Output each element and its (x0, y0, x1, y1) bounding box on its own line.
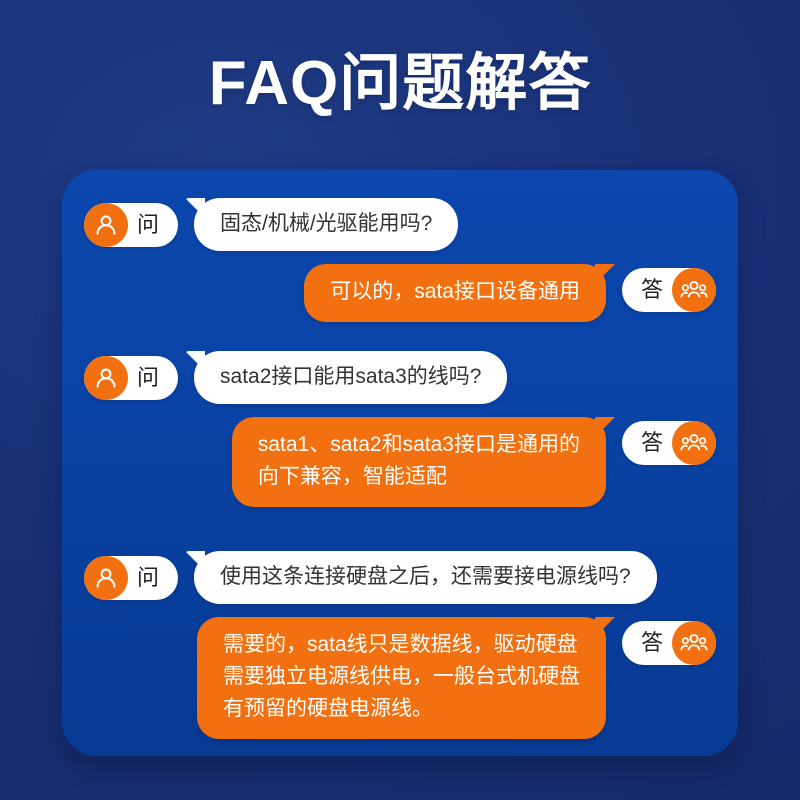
person-icon (84, 203, 128, 247)
answer-badge-label: 答 (638, 268, 672, 312)
answer-bubble: 可以的，sata接口设备通用 (304, 264, 606, 322)
question-text: 固态/机械/光驱能用吗? (220, 212, 432, 235)
person-icon (84, 356, 128, 400)
answer-row: 可以的，sata接口设备通用 答 (62, 264, 738, 322)
question-badge: 问 (84, 556, 178, 600)
answer-bubble: sata1、sata2和sata3接口是通用的 向下兼容，智能适配 (232, 417, 606, 507)
question-text: sata2接口能用sata3的线吗? (220, 365, 481, 388)
faq-item: 问 固态/机械/光驱能用吗? 可以的，sata接口设备通用 答 (62, 198, 738, 322)
question-badge-label: 问 (128, 556, 162, 600)
page-title: FAQ问题解答 (0, 47, 800, 121)
answer-line: 需要的，sata线只是数据线，驱动硬盘 (223, 629, 580, 661)
answer-line: 需要独立电源线供电，一般台式机硬盘 (223, 661, 580, 693)
group-people-icon (672, 268, 716, 312)
answer-row: 需要的，sata线只是数据线，驱动硬盘 需要独立电源线供电，一般台式机硬盘 有预… (62, 617, 738, 739)
question-row: 问 sata2接口能用sata3的线吗? (62, 351, 738, 404)
faq-item: 问 sata2接口能用sata3的线吗? sata1、sata2和sata3接口… (62, 351, 738, 507)
answer-badge-label: 答 (638, 621, 672, 665)
answer-badge: 答 (622, 621, 716, 665)
question-bubble: 固态/机械/光驱能用吗? (194, 198, 458, 251)
question-badge-label: 问 (128, 203, 162, 247)
answer-line: 可以的，sata接口设备通用 (330, 276, 580, 308)
question-bubble: 使用这条连接硬盘之后，还需要接电源线吗? (194, 551, 657, 604)
question-badge: 问 (84, 356, 178, 400)
answer-badge: 答 (622, 421, 716, 465)
faq-card: 问 固态/机械/光驱能用吗? 可以的，sata接口设备通用 答 (62, 170, 738, 756)
answer-badge: 答 (622, 268, 716, 312)
answer-row: sata1、sata2和sata3接口是通用的 向下兼容，智能适配 答 (62, 417, 738, 507)
question-badge-label: 问 (128, 356, 162, 400)
answer-line: 有预留的硬盘电源线。 (223, 693, 580, 725)
question-row: 问 固态/机械/光驱能用吗? (62, 198, 738, 251)
group-people-icon (672, 421, 716, 465)
group-people-icon (672, 621, 716, 665)
answer-badge-label: 答 (638, 421, 672, 465)
answer-line: sata1、sata2和sata3接口是通用的 (258, 429, 580, 461)
answer-bubble: 需要的，sata线只是数据线，驱动硬盘 需要独立电源线供电，一般台式机硬盘 有预… (197, 617, 606, 739)
faq-page: FAQ问题解答 问 固态/机械/光驱能用吗? (0, 0, 800, 800)
question-text: 使用这条连接硬盘之后，还需要接电源线吗? (220, 565, 631, 588)
question-row: 问 使用这条连接硬盘之后，还需要接电源线吗? (62, 551, 738, 604)
question-badge: 问 (84, 203, 178, 247)
answer-line: 向下兼容，智能适配 (258, 461, 580, 493)
question-bubble: sata2接口能用sata3的线吗? (194, 351, 507, 404)
person-icon (84, 556, 128, 600)
faq-item: 问 使用这条连接硬盘之后，还需要接电源线吗? 需要的，sata线只是数据线，驱动… (62, 551, 738, 739)
